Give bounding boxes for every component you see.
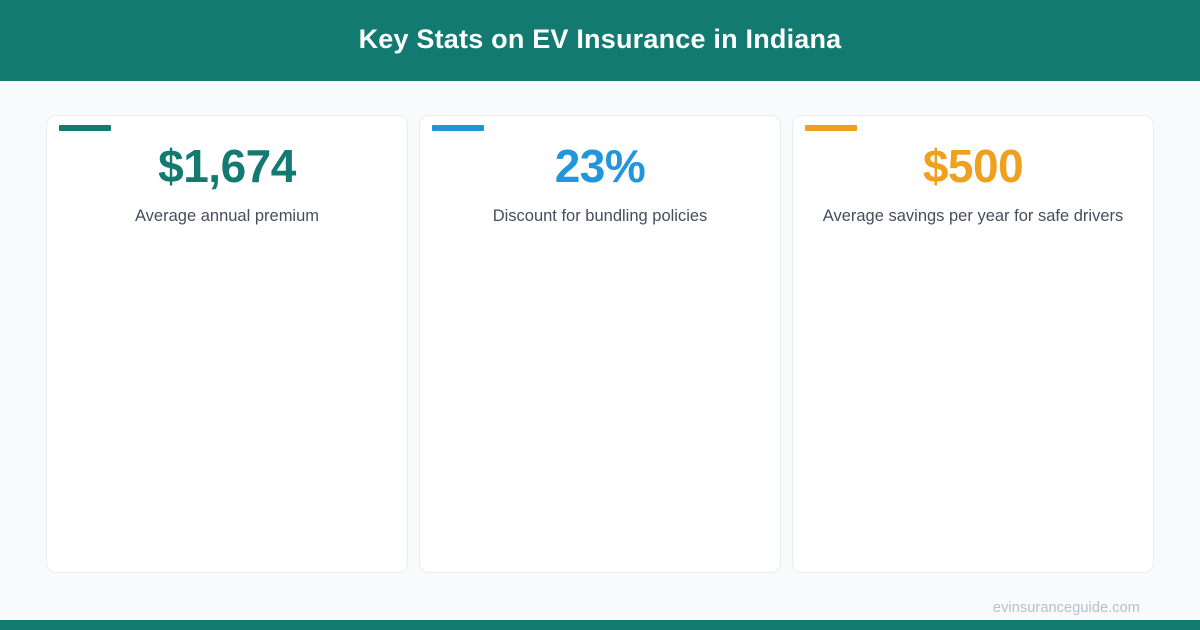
stat-label: Average savings per year for safe driver… [823,206,1124,227]
card-accent-bar [805,125,857,131]
header-bar: Key Stats on EV Insurance in Indiana [0,0,1200,81]
stat-label: Discount for bundling policies [493,206,708,227]
stat-label: Average annual premium [135,206,319,227]
footer-bar [0,620,1200,630]
page-title: Key Stats on EV Insurance in Indiana [359,26,842,55]
stat-card-average-annual-premium: $1,674 Average annual premium [46,115,408,573]
card-accent-bar [59,125,111,131]
card-body: $1,674 Average annual premium [47,142,407,226]
stat-card-bundling-discount: 23% Discount for bundling policies [419,115,781,573]
stat-value: $1,674 [158,142,296,192]
stat-cards-row: $1,674 Average annual premium 23% Discou… [46,115,1154,573]
card-body: 23% Discount for bundling policies [420,142,780,226]
card-body: $500 Average savings per year for safe d… [793,142,1153,226]
stat-value: 23% [555,142,646,192]
stat-value: $500 [923,142,1023,192]
card-accent-bar [432,125,484,131]
stat-card-safe-driver-savings: $500 Average savings per year for safe d… [792,115,1154,573]
footer-source-credit: evinsuranceguide.com [993,600,1140,616]
